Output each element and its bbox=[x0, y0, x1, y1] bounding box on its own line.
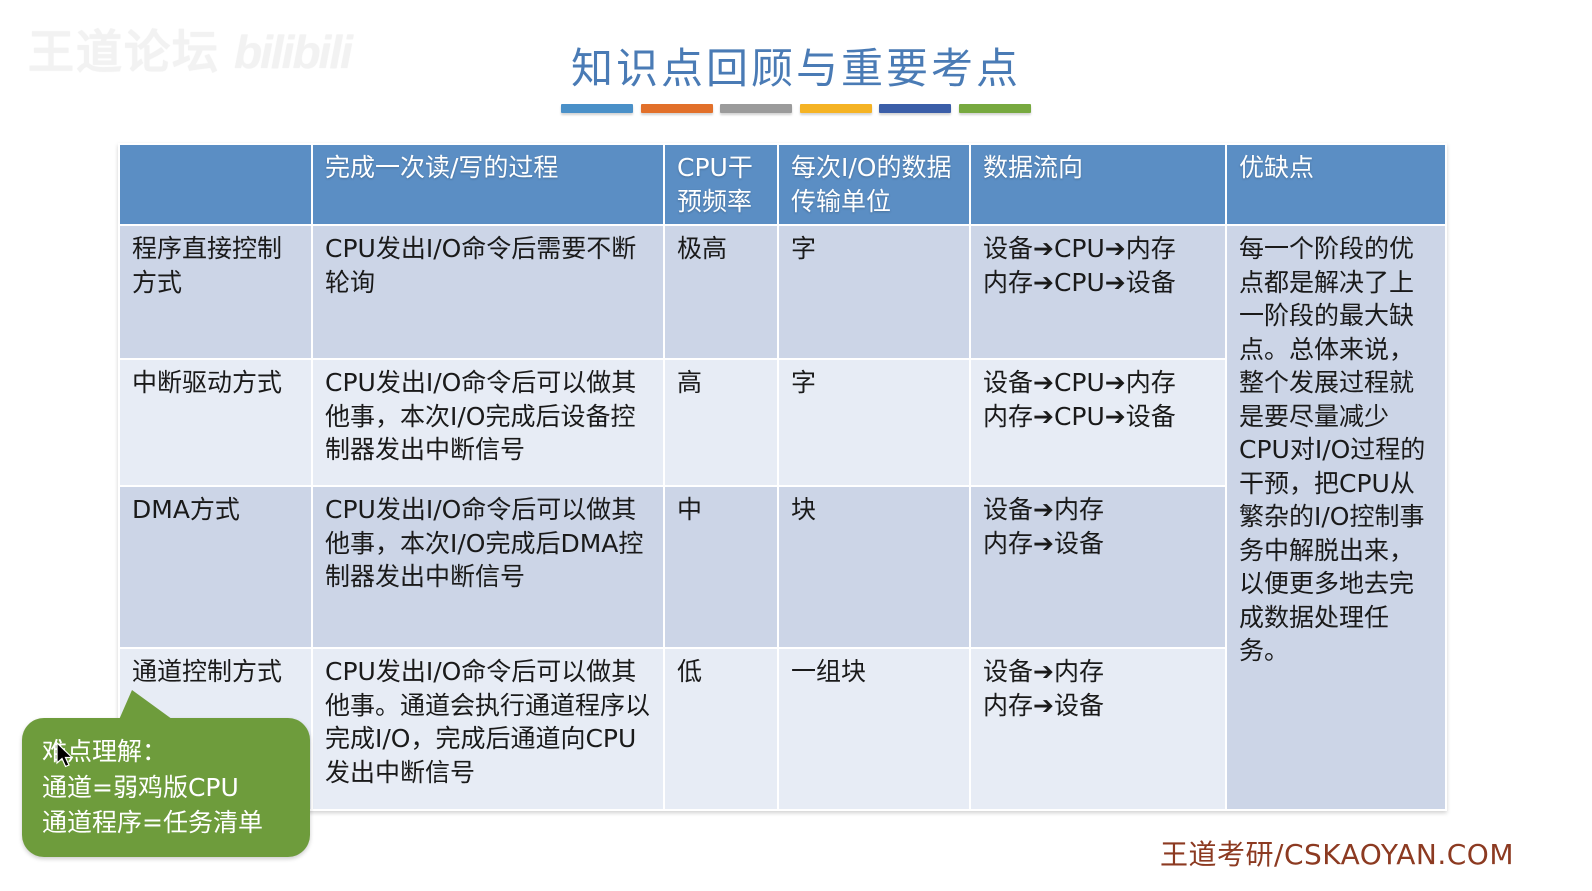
header-data-flow: 数据流向 bbox=[970, 144, 1226, 225]
underline-bar-amber bbox=[800, 104, 872, 113]
cell-cpu-frequency: 中 bbox=[664, 486, 778, 648]
header-pros-cons: 优缺点 bbox=[1226, 144, 1446, 225]
cell-method: 程序直接控制方式 bbox=[119, 225, 312, 359]
cell-transfer-unit: 一组块 bbox=[778, 648, 970, 810]
io-control-comparison-table: 完成一次读/写的过程 CPU干预频率 每次I/O的数据传输单位 数据流向 优缺点… bbox=[118, 143, 1447, 811]
cell-data-flow: 设备➔CPU➔内存 内存➔CPU➔设备 bbox=[970, 225, 1226, 359]
footer-brand: 王道考研/CSKAOYAN.COM bbox=[1160, 833, 1514, 873]
callout-line-1: 难点理解： bbox=[42, 734, 294, 770]
cell-cpu-frequency: 低 bbox=[664, 648, 778, 810]
cell-process: CPU发出I/O命令后可以做其他事，本次I/O完成后设备控制器发出中断信号 bbox=[312, 359, 664, 486]
underline-bar-gray bbox=[720, 104, 792, 113]
header-transfer-unit: 每次I/O的数据传输单位 bbox=[778, 144, 970, 225]
title-underline-bars bbox=[561, 104, 1031, 113]
header-method bbox=[119, 144, 312, 225]
underline-bar-navy bbox=[879, 104, 951, 113]
cell-cpu-frequency: 高 bbox=[664, 359, 778, 486]
cell-data-flow: 设备➔CPU➔内存 内存➔CPU➔设备 bbox=[970, 359, 1226, 486]
cell-data-flow: 设备➔内存 内存➔设备 bbox=[970, 648, 1226, 810]
header-process: 完成一次读/写的过程 bbox=[312, 144, 664, 225]
data-flow-line-1: 设备➔内存 bbox=[983, 655, 1215, 689]
difficulty-note-callout: 难点理解： 通道=弱鸡版CPU 通道程序=任务清单 bbox=[22, 718, 310, 857]
cell-method: 中断驱动方式 bbox=[119, 359, 312, 486]
title-block: 知识点回顾与重要考点 bbox=[0, 44, 1592, 113]
table-header-row: 完成一次读/写的过程 CPU干预频率 每次I/O的数据传输单位 数据流向 优缺点 bbox=[119, 144, 1446, 225]
callout-tail bbox=[118, 690, 176, 722]
page-title: 知识点回顾与重要考点 bbox=[0, 44, 1592, 94]
cell-transfer-unit: 字 bbox=[778, 225, 970, 359]
data-flow-line-2: 内存➔CPU➔设备 bbox=[983, 266, 1215, 300]
underline-bar-orange bbox=[641, 104, 713, 113]
table-row: 程序直接控制方式 CPU发出I/O命令后需要不断轮询 极高 字 设备➔CPU➔内… bbox=[119, 225, 1446, 359]
cell-transfer-unit: 块 bbox=[778, 486, 970, 648]
data-flow-line-1: 设备➔内存 bbox=[983, 493, 1215, 527]
cell-process: CPU发出I/O命令后可以做其他事。通道会执行通道程序以完成I/O，完成后通道向… bbox=[312, 648, 664, 810]
data-flow-line-1: 设备➔CPU➔内存 bbox=[983, 232, 1215, 266]
cell-pros-cons-note: 每一个阶段的优点都是解决了上一阶段的最大缺点。总体来说，整个发展过程就是要尽量减… bbox=[1226, 225, 1446, 810]
cell-process: CPU发出I/O命令后可以做其他事，本次I/O完成后DMA控制器发出中断信号 bbox=[312, 486, 664, 648]
underline-bar-blue bbox=[561, 104, 633, 113]
callout-line-2: 通道=弱鸡版CPU bbox=[42, 770, 294, 806]
data-flow-line-2: 内存➔设备 bbox=[983, 527, 1215, 561]
callout-line-3: 通道程序=任务清单 bbox=[42, 805, 294, 841]
cell-process: CPU发出I/O命令后需要不断轮询 bbox=[312, 225, 664, 359]
cell-cpu-frequency: 极高 bbox=[664, 225, 778, 359]
data-flow-line-1: 设备➔CPU➔内存 bbox=[983, 366, 1215, 400]
data-flow-line-2: 内存➔CPU➔设备 bbox=[983, 400, 1215, 434]
cell-transfer-unit: 字 bbox=[778, 359, 970, 486]
header-cpu-frequency: CPU干预频率 bbox=[664, 144, 778, 225]
cell-method: DMA方式 bbox=[119, 486, 312, 648]
cell-data-flow: 设备➔内存 内存➔设备 bbox=[970, 486, 1226, 648]
underline-bar-green bbox=[959, 104, 1031, 113]
data-flow-line-2: 内存➔设备 bbox=[983, 689, 1215, 723]
